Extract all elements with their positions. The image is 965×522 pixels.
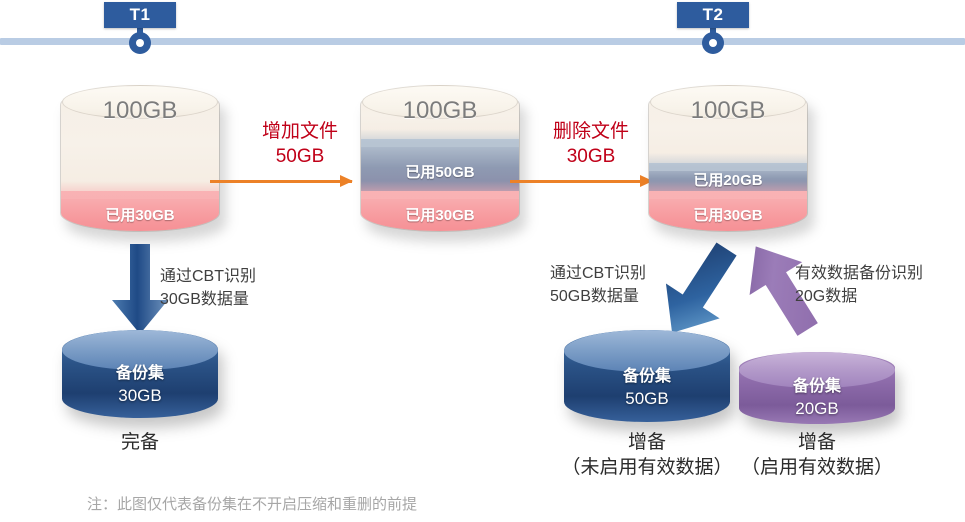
- disk-body: [564, 330, 730, 422]
- disk-body: [62, 330, 218, 418]
- caption-backup-full: 完备: [40, 430, 240, 455]
- storage-volume-t2: 100GB 已用20GB 已用30GB: [648, 86, 808, 232]
- timeline-marker-t2[interactable]: T2: [677, 2, 749, 54]
- transition-line-2: 30GB: [515, 144, 667, 169]
- volume-used-blue-segment: [360, 139, 520, 191]
- backup-set-full: 备份集 30GB: [62, 330, 218, 418]
- marker-pin-icon: [702, 32, 724, 54]
- caption-backup-incremental-valid: 增备 （启用有效数据）: [717, 430, 917, 480]
- volume-top-cap: [62, 85, 218, 119]
- annotation-cbt-30: 通过CBT识别 30GB数据量: [160, 265, 256, 311]
- volume-used-pink-segment: [360, 191, 520, 232]
- storage-volume-middle: 100GB 已用50GB 已用30GB: [360, 86, 520, 232]
- marker-label-t1: T1: [104, 2, 176, 28]
- transition-label-add-files: 增加文件 50GB: [224, 119, 376, 169]
- annotation-line-2: 50GB数据量: [550, 285, 646, 308]
- annotation-cbt-50: 通过CBT识别 50GB数据量: [550, 262, 646, 308]
- annotation-line-1: 通过CBT识别: [160, 265, 256, 288]
- disk-top: [62, 330, 218, 370]
- annotation-line-1: 通过CBT识别: [550, 262, 646, 285]
- volume-top-cap: [362, 85, 518, 119]
- transition-line-2: 50GB: [224, 144, 376, 169]
- volume-used-pink-segment: [60, 191, 220, 232]
- transition-arrow-delete-files: [510, 180, 652, 183]
- caption-line-1: 增备: [717, 430, 917, 455]
- annotation-line-2: 30GB数据量: [160, 288, 256, 311]
- volume-used-pink-segment: [648, 191, 808, 232]
- caption-line-2: （启用有效数据）: [717, 455, 917, 480]
- transition-line-1: 增加文件: [224, 119, 376, 144]
- volume-used-blue-segment: [648, 163, 808, 191]
- disk-body: [739, 352, 895, 424]
- volume-top-cap: [650, 85, 806, 119]
- storage-volume-t1: 100GB 已用30GB: [60, 86, 220, 232]
- annotation-valid-20: 有效数据备份识别 20G数据: [795, 262, 923, 308]
- timeline-marker-t1[interactable]: T1: [104, 2, 176, 54]
- annotation-line-1: 有效数据备份识别: [795, 262, 923, 285]
- annotation-line-2: 20G数据: [795, 285, 923, 308]
- backup-set-incremental-valid: 备份集 20GB: [739, 352, 895, 424]
- backup-set-incremental-no-valid: 备份集 50GB: [564, 330, 730, 422]
- caption-line-1: 完备: [40, 430, 240, 455]
- transition-line-1: 删除文件: [515, 119, 667, 144]
- marker-label-t2: T2: [677, 2, 749, 28]
- disk-top: [739, 352, 895, 388]
- transition-label-delete-files: 删除文件 30GB: [515, 119, 667, 169]
- transition-arrow-add-files: [210, 180, 352, 183]
- marker-pin-icon: [129, 32, 151, 54]
- footnote-text: 注：此图仅代表备份集在不开启压缩和重删的前提: [87, 493, 417, 514]
- diagram-canvas: T1 T2 100GB 已用30GB 增加文件 50GB 1: [0, 0, 965, 522]
- disk-top: [564, 330, 730, 372]
